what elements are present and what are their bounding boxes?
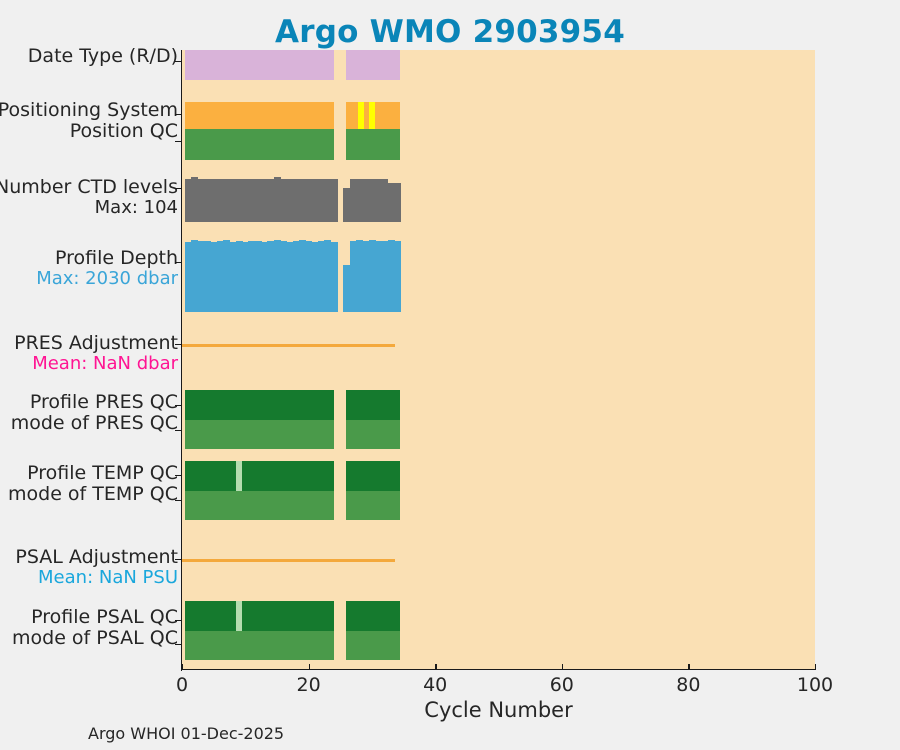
row-label-main: Number CTD levels xyxy=(0,177,178,198)
x-tick-60 xyxy=(562,664,563,670)
segment xyxy=(185,420,334,449)
segment xyxy=(185,461,236,491)
band-profile-temp-qc xyxy=(182,461,815,491)
x-tick-label-80: 80 xyxy=(676,674,700,696)
row-label-main: PSAL Adjustment xyxy=(15,547,178,568)
x-tick-label-40: 40 xyxy=(423,674,447,696)
segment xyxy=(346,491,400,520)
segment xyxy=(346,461,400,491)
row-label-positioning-system: Positioning System Position QC xyxy=(0,100,178,143)
segment xyxy=(185,601,236,631)
row-label-sub: Mean: NaN dbar xyxy=(14,354,178,374)
row-label-sub: Max: 2030 dbar xyxy=(36,269,178,289)
row-label-sub: Mean: NaN PSU xyxy=(15,568,178,588)
row-label-temp-qc: Profile TEMP QC mode of TEMP QC xyxy=(8,463,178,506)
row-label-main: Profile PRES QC xyxy=(11,392,178,413)
row-label-main: Profile PSAL QC xyxy=(12,607,178,628)
x-tick-80 xyxy=(688,664,689,670)
row-label-main: Profile Depth xyxy=(36,248,178,269)
x-tick-20 xyxy=(309,664,310,670)
segment xyxy=(185,631,334,660)
row-label-main: Profile TEMP QC xyxy=(8,463,178,484)
segment xyxy=(185,390,334,420)
row-label-main: Date Type (R/D) xyxy=(28,46,178,67)
footer-credit: Argo WHOI 01-Dec-2025 xyxy=(88,724,284,743)
row-label-psal-adjustment: PSAL Adjustment Mean: NaN PSU xyxy=(15,547,178,588)
x-tick-label-20: 20 xyxy=(297,674,321,696)
bar xyxy=(394,241,401,312)
segment xyxy=(185,491,334,520)
x-tick-label-60: 60 xyxy=(550,674,574,696)
x-axis-line xyxy=(181,669,816,670)
band-mode-of-temp-qc xyxy=(182,491,815,520)
x-tick-40 xyxy=(435,664,436,670)
row-label-sub: Position QC xyxy=(0,121,178,142)
row-label-profile-depth: Profile Depth Max: 2030 dbar xyxy=(36,248,178,289)
segment xyxy=(346,631,400,660)
line-psal-adjustment xyxy=(182,559,395,562)
band-mode-of-psal-qc xyxy=(182,631,815,660)
row-label-psal-qc: Profile PSAL QC mode of PSAL QC xyxy=(12,607,178,650)
segment xyxy=(346,601,400,631)
row-label-main: Positioning System xyxy=(0,100,178,121)
plot-area xyxy=(182,50,815,670)
band-profile-psal-qc xyxy=(182,601,815,631)
row-label-sub: mode of TEMP QC xyxy=(8,484,178,505)
row-label-ctd-levels: Number CTD levels Max: 104 xyxy=(0,177,178,218)
row-label-sub: mode of PRES QC xyxy=(11,413,178,434)
row-label-main: PRES Adjustment xyxy=(14,333,178,354)
row-label-pres-adjustment: PRES Adjustment Mean: NaN dbar xyxy=(14,333,178,374)
x-axis-label: Cycle Number xyxy=(182,698,815,722)
segment xyxy=(242,461,334,491)
argo-summary-figure: Argo WMO 2903954 Date Type (R/D) Positio… xyxy=(0,0,900,750)
band-profile-depth xyxy=(182,50,815,312)
segment xyxy=(242,601,334,631)
x-tick-100 xyxy=(815,664,816,670)
x-tick-0 xyxy=(182,664,183,670)
line-pres-adjustment xyxy=(182,344,395,347)
band-profile-pres-qc xyxy=(182,390,815,420)
row-label-pres-qc: Profile PRES QC mode of PRES QC xyxy=(11,392,178,435)
row-label-sub: mode of PSAL QC xyxy=(12,628,178,649)
segment xyxy=(346,420,400,449)
row-label-date-type: Date Type (R/D) xyxy=(28,46,178,67)
band-mode-of-pres-qc xyxy=(182,420,815,449)
x-tick-label-0: 0 xyxy=(176,674,188,696)
x-tick-label-100: 100 xyxy=(797,674,833,696)
bar xyxy=(331,242,338,312)
segment xyxy=(346,390,400,420)
row-label-sub: Max: 104 xyxy=(0,198,178,218)
y-axis-line xyxy=(181,50,182,671)
